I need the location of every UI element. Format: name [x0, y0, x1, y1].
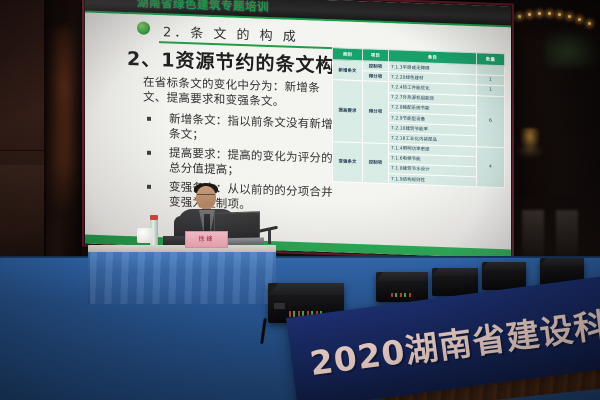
table-cell-category: 提高要求	[333, 80, 363, 142]
documents-stack	[163, 236, 185, 245]
stage-monitor-speaker	[482, 262, 526, 290]
water-bottle-cap	[150, 215, 158, 220]
conference-hall-photo: 湖南省绿色建筑专题培训 2．条 文 的 构 成 2、1资源节约的条文构成 在省标…	[0, 0, 600, 400]
table-cell-count: 6	[477, 95, 505, 147]
table-header-cell: 项目	[363, 49, 389, 62]
glasses-icon	[197, 194, 215, 199]
tea-cup	[137, 228, 153, 243]
wall-emblem-base	[516, 146, 544, 158]
projection-screen: 湖南省绿色建筑专题培训 2．条 文 的 构 成 2、1资源节约的条文构成 在省标…	[82, 0, 514, 262]
list-item: 变强条文：从以前的的分项合并变强为控制项。	[143, 179, 343, 216]
presentation-slide: 湖南省绿色建筑专题培训 2．条 文 的 构 成 2、1资源节约的条文构成 在省标…	[85, 0, 511, 258]
slide-content: 2．条 文 的 构 成 2、1资源节约的条文构成 在省标条文的变化中分为：新增条…	[85, 13, 511, 259]
presenter-table-skirt	[90, 252, 276, 304]
table-header-cell: 类别	[333, 48, 363, 61]
speaker-slope	[432, 268, 478, 276]
speaker-slope	[540, 258, 584, 266]
left-curtain-highlight-lower	[48, 105, 82, 215]
table-body: 新增条文 控制项 7.1.3平层或无障碍 得分项 7.2.20绿色建材 1 提高…	[333, 60, 505, 188]
name-card-text: 徐峰	[186, 234, 227, 243]
table-cell-count: 4	[477, 146, 505, 188]
slide-bullet-list: 新增条文：指以前条文没有新增条文； 提高要求：提高的变化为评分的总分值提高； 变…	[143, 111, 343, 220]
slide-data-table: 类别 项目 条目 数量 新增条文 控制项 7.1.3平层或无障碍	[332, 47, 505, 188]
left-wall-lower-panel	[0, 165, 44, 270]
potted-plant	[545, 28, 600, 68]
microphone-stand	[268, 230, 271, 244]
slide-title: 2、1资源节约的条文构成	[127, 44, 355, 79]
stage-monitor-speaker	[376, 272, 428, 302]
door-glass-right	[556, 210, 578, 258]
speaker-slope	[482, 262, 526, 270]
speaker-port	[274, 303, 285, 309]
speaker-slope	[268, 283, 344, 295]
left-wall-seam-horizontal	[0, 150, 46, 151]
speaker-slope	[376, 272, 428, 281]
table-header-cell: 数量	[477, 53, 505, 66]
door-glass-left	[522, 210, 544, 258]
section-bullet-icon	[137, 21, 150, 34]
slide-intro-paragraph: 在省标条文的变化中分为：新增条文、提高要求和变强条文。	[143, 75, 333, 112]
stage-monitor-speaker	[432, 268, 478, 296]
name-card: 徐峰	[185, 231, 228, 248]
list-item: 新增条文：指以前条文没有新增条文；	[143, 111, 343, 148]
table-cell-item: 7.1.9结构规则性	[389, 174, 477, 187]
table-cell-project: 控制项	[363, 142, 389, 184]
table-cell-category: 变强条文	[333, 141, 363, 183]
table-cell-category: 新增条文	[333, 60, 363, 81]
list-item: 提高要求：提高的变化为评分的总分值提高；	[143, 145, 343, 182]
speaker-indicator-leds	[391, 293, 414, 297]
table-cell-project: 得分项	[363, 81, 389, 143]
